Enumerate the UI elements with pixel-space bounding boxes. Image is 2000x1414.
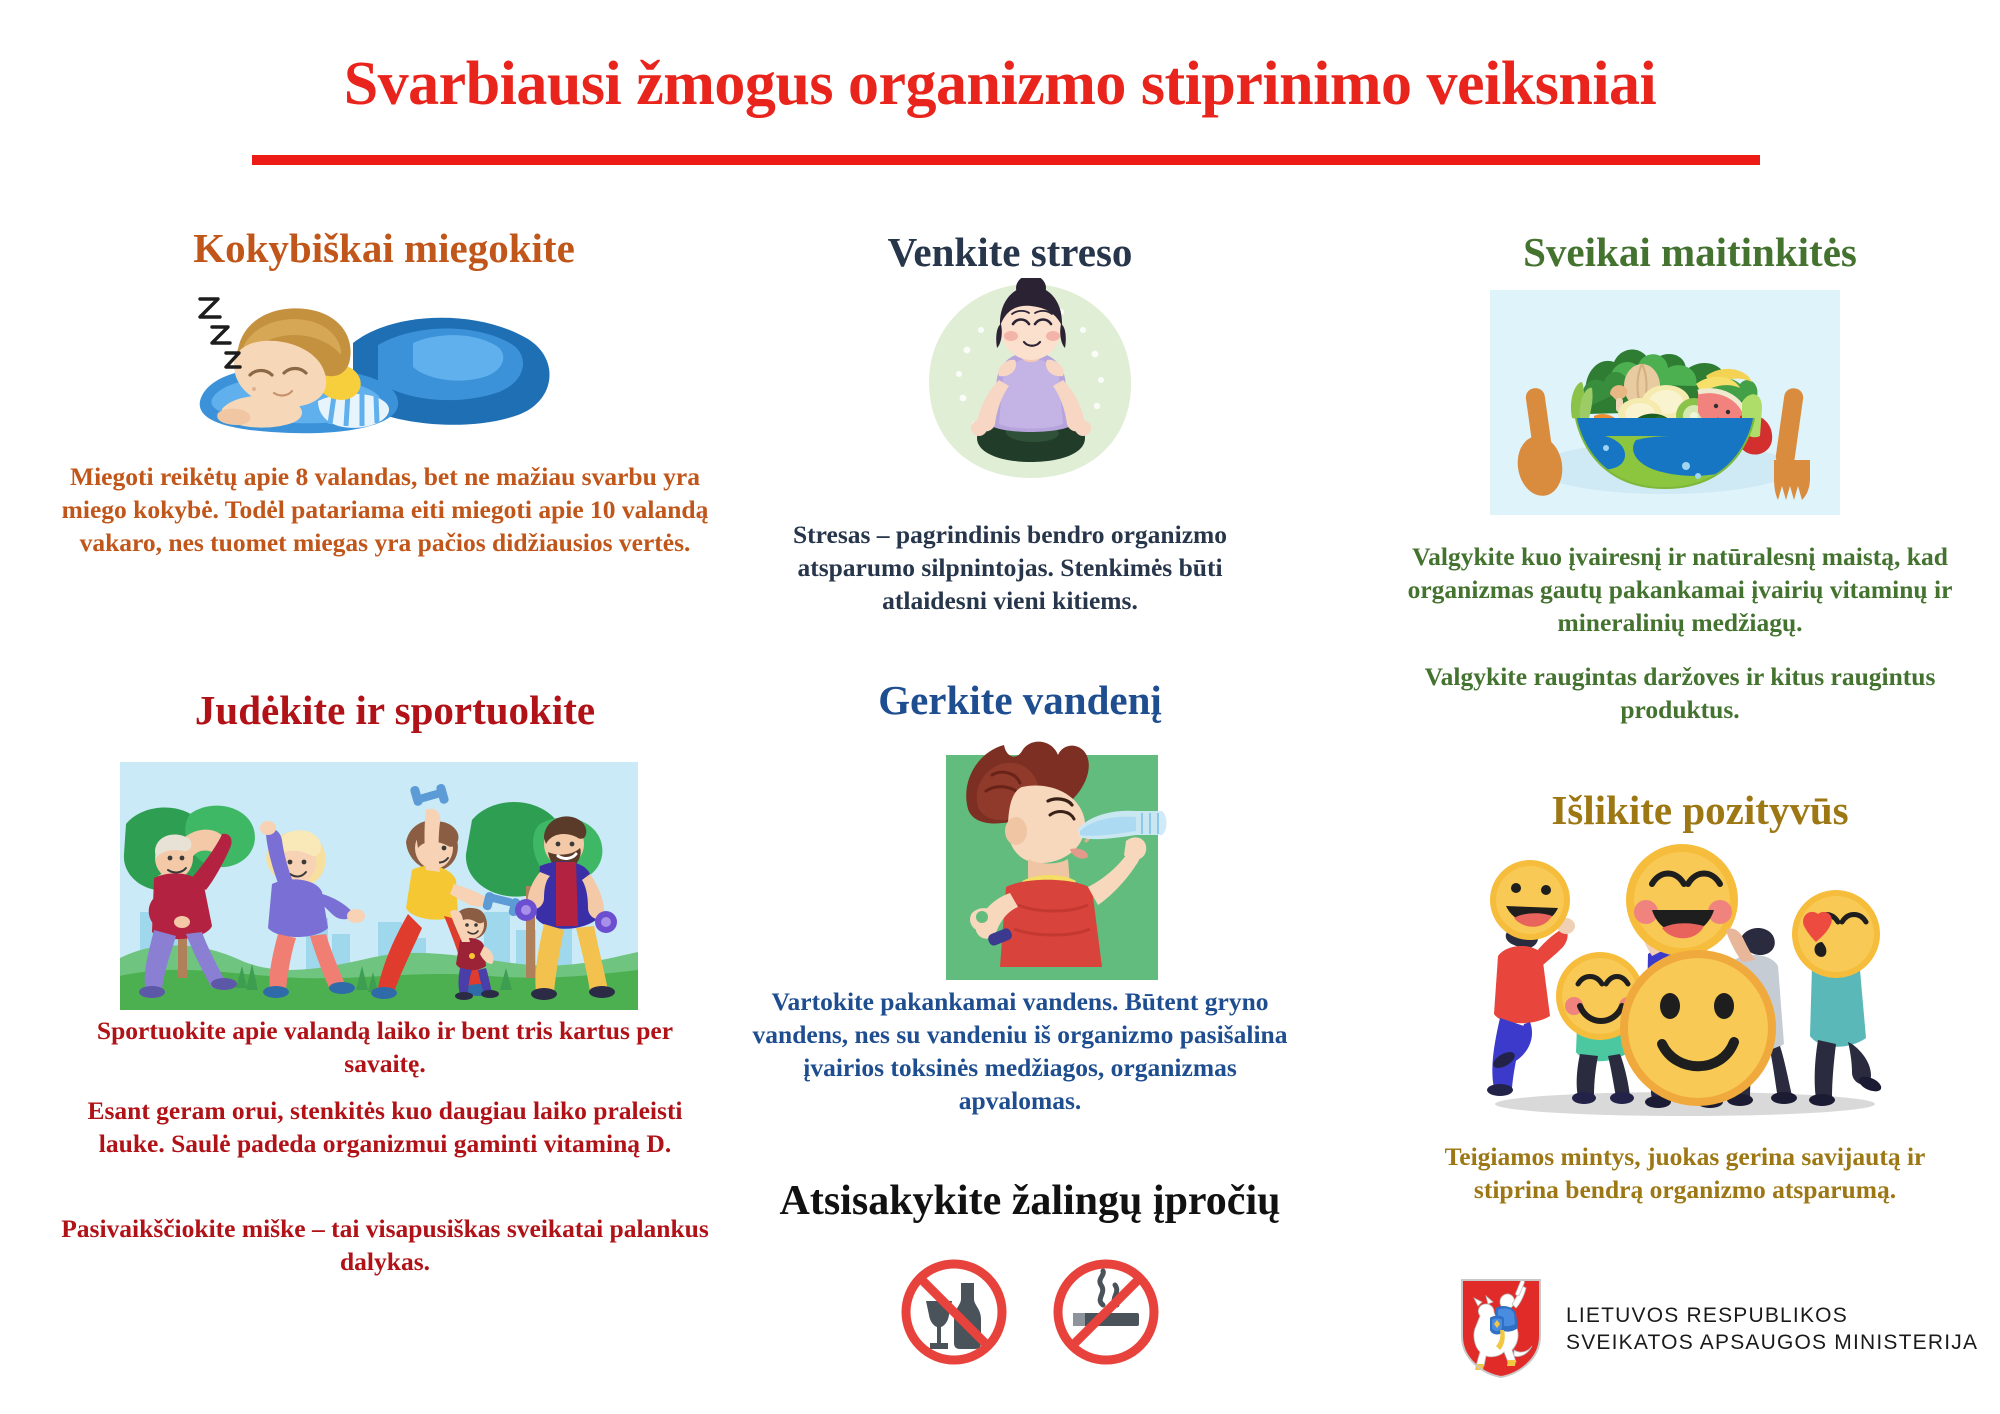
ministry-logo-line-2: SVEIKATOS APSAUGOS MINISTERIJA xyxy=(1566,1331,1978,1354)
ministry-logo-line-1: LIETUVOS RESPUBLIKOS xyxy=(1566,1304,1848,1327)
section-paragraph-sport-2: Esant geram orui, stenkitės kuo daugiau … xyxy=(60,1094,710,1160)
section-paragraph-sport-3: Pasivaikščiokite miške – tai visapusiška… xyxy=(60,1212,710,1278)
section-heading-nutrition: Sveikai maitinkitės xyxy=(1400,232,1980,273)
no-smoking-icon xyxy=(1047,1253,1165,1376)
meditating-woman-illustration xyxy=(915,278,1145,496)
section-paragraph-nutrition-2: Valgykite raugintas daržoves ir kitus ra… xyxy=(1390,660,1970,726)
salad-bowl-globe-illustration xyxy=(1490,290,1840,515)
ministry-logo: LIETUVOS RESPUBLIKOS SVEIKATOS APSAUGOS … xyxy=(1458,1275,1978,1385)
bad-habits-icon-group xyxy=(890,1252,1170,1377)
section-paragraph-sport-1: Sportuokite apie valandą laiko ir bent t… xyxy=(60,1014,710,1080)
section-paragraph-stress: Stresas – pagrindinis bendro organizmo a… xyxy=(750,518,1270,617)
ministry-logo-text: LIETUVOS RESPUBLIKOS SVEIKATOS APSAUGOS … xyxy=(1566,1303,1978,1357)
people-holding-smiley-faces-illustration xyxy=(1470,838,1900,1118)
section-heading-bad-habits: Atsisakykite žalingų įpročių xyxy=(700,1180,1360,1222)
section-paragraph-water: Vartokite pakankamai vandens. Būtent gry… xyxy=(750,985,1290,1118)
section-heading-sleep: Kokybiškai miegokite xyxy=(84,228,684,269)
sleeping-boy-illustration xyxy=(178,283,568,443)
section-paragraph-sleep: Miegoti reikėtų apie 8 valandas, bet ne … xyxy=(60,460,710,559)
section-heading-sport: Judėkite ir sportuokite xyxy=(70,690,720,731)
title-underline-rule xyxy=(252,155,1760,165)
boy-drinking-water-illustration xyxy=(930,735,1175,980)
section-heading-stress: Venkite streso xyxy=(730,232,1290,273)
section-heading-positive: Išlikite pozityvūs xyxy=(1420,790,1980,831)
people-exercising-in-park-illustration xyxy=(120,762,638,1010)
lithuania-coat-of-arms-vytis xyxy=(1458,1276,1544,1385)
page-title: Svarbiausi žmogus organizmo stiprinimo v… xyxy=(0,52,2000,117)
poster-root: Svarbiausi žmogus organizmo stiprinimo v… xyxy=(0,0,2000,1414)
section-paragraph-nutrition-1: Valgykite kuo įvairesnį ir natūralesnį m… xyxy=(1390,540,1970,639)
section-heading-water: Gerkite vandenį xyxy=(740,680,1300,721)
no-alcohol-icon xyxy=(895,1253,1013,1376)
section-paragraph-positive: Teigiamos mintys, juokas gerina savijaut… xyxy=(1400,1140,1970,1206)
